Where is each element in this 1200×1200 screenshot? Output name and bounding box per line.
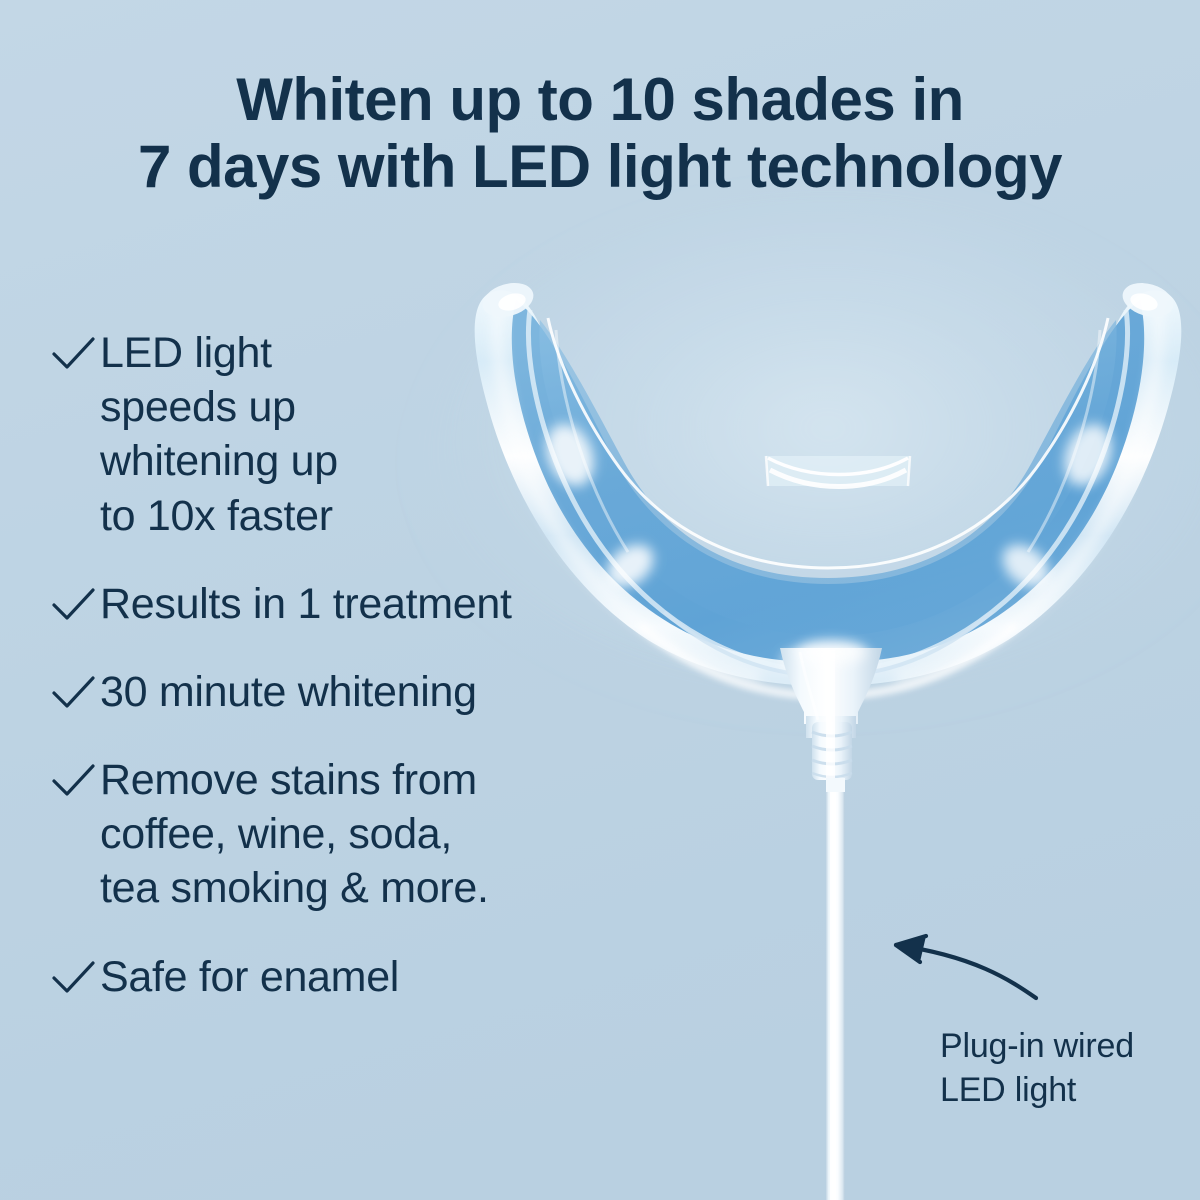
feature-text: Remove stains from coffee, wine, soda, t… [100, 753, 489, 916]
funnel-connector [780, 640, 882, 780]
check-icon [48, 757, 100, 803]
page-title: Whiten up to 10 shades in 7 days with LE… [0, 66, 1200, 200]
list-item: Remove stains from coffee, wine, soda, t… [48, 753, 668, 916]
check-icon [48, 954, 100, 1000]
tray-center-bar [766, 456, 910, 487]
feature-text: LED light speeds up whitening up to 10x … [100, 326, 338, 543]
infographic-canvas: Whiten up to 10 shades in 7 days with LE… [0, 0, 1200, 1200]
list-item: LED light speeds up whitening up to 10x … [48, 326, 668, 543]
check-icon [48, 330, 100, 376]
curved-arrow-icon [870, 920, 1060, 1015]
check-icon [48, 581, 100, 627]
power-cable [826, 760, 845, 1200]
list-item: 30 minute whitening [48, 665, 668, 719]
feature-text: 30 minute whitening [100, 665, 477, 719]
list-item: Safe for enamel [48, 950, 668, 1004]
list-item: Results in 1 treatment [48, 577, 668, 631]
callout-label: Plug-in wired LED light [940, 1024, 1190, 1112]
feature-text: Results in 1 treatment [100, 577, 512, 631]
feature-list: LED light speeds up whitening up to 10x … [48, 326, 668, 1004]
feature-text: Safe for enamel [100, 950, 399, 1004]
check-icon [48, 669, 100, 715]
